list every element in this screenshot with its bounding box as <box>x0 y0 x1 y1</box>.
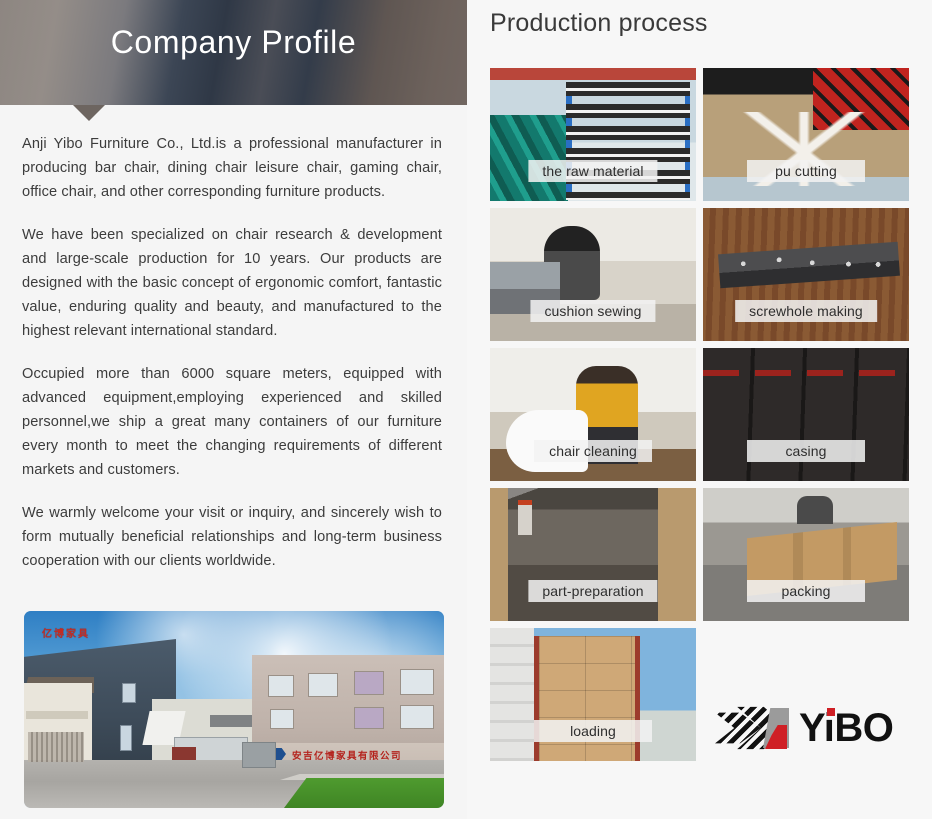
production-process-title: Production process <box>490 9 708 38</box>
process-step-label: chair cleaning <box>534 440 652 462</box>
page-title: Company Profile <box>0 24 467 61</box>
process-step-chair-cleaning[interactable]: chair cleaning <box>490 348 696 481</box>
process-step-screwhole-making[interactable]: screwhole making <box>703 208 909 341</box>
office-window <box>308 673 338 697</box>
profile-paragraph-2: We have been specialized on chair resear… <box>22 223 442 343</box>
process-step-cushion-sewing[interactable]: cushion sewing <box>490 208 696 341</box>
process-step-label: part-preparation <box>528 580 657 602</box>
production-process-panel: Production process the raw material pu c… <box>467 0 932 819</box>
office-window <box>270 709 294 729</box>
process-step-label: screwhole making <box>735 300 877 322</box>
company-profile-banner: Company Profile <box>0 0 467 105</box>
workshop-sign-text: 亿博家具 <box>42 625 90 640</box>
process-step-packing[interactable]: packing <box>703 488 909 621</box>
process-step-casing[interactable]: casing <box>703 348 909 481</box>
office-window <box>400 705 434 729</box>
process-step-part-preparation[interactable]: part-preparation <box>490 488 696 621</box>
waste-bin <box>242 742 276 768</box>
office-window <box>400 669 434 695</box>
logo-letter-y: Y <box>799 706 824 750</box>
process-step-loading[interactable]: loading <box>490 628 696 761</box>
yibo-chevron-icon <box>715 704 789 752</box>
logo-wordmark: YiBO <box>799 708 893 748</box>
company-profile-text: Anji Yibo Furniture Co., Ltd.is a profes… <box>22 132 442 573</box>
process-step-label: casing <box>747 440 865 462</box>
brand-logo: YiBO <box>715 695 905 761</box>
office-window <box>268 675 294 697</box>
logo-letter-i: i <box>824 706 835 750</box>
company-profile-page: Company Profile Anji Yibo Furniture Co.,… <box>0 0 932 819</box>
logo-letters-bo: BO <box>834 706 893 750</box>
process-step-label: the raw material <box>528 160 657 182</box>
company-profile-panel: Company Profile Anji Yibo Furniture Co.,… <box>0 0 467 819</box>
process-step-raw-material[interactable]: the raw material <box>490 68 696 201</box>
grass-lawn <box>284 778 444 808</box>
profile-paragraph-1: Anji Yibo Furniture Co., Ltd.is a profes… <box>22 132 442 204</box>
office-window <box>354 671 384 695</box>
workshop-window <box>122 683 136 703</box>
office-window <box>354 707 384 729</box>
process-step-label: packing <box>747 580 865 602</box>
process-step-label: cushion sewing <box>530 300 655 322</box>
storage-racks <box>28 732 84 762</box>
process-step-label: pu cutting <box>747 160 865 182</box>
profile-paragraph-4: We warmly welcome your visit or inquiry,… <box>22 501 442 573</box>
production-process-grid: the raw material pu cutting cushion sewi… <box>490 68 909 761</box>
process-step-pu-cutting[interactable]: pu cutting <box>703 68 909 201</box>
process-step-label: loading <box>534 720 652 742</box>
house-canopy <box>26 711 88 719</box>
workshop-window <box>120 725 132 751</box>
factory-photo: 亿博家具 安吉亿博家具有限公司 ANJI YIBO FURN <box>24 611 444 808</box>
profile-paragraph-3: Occupied more than 6000 square meters, e… <box>22 362 442 482</box>
